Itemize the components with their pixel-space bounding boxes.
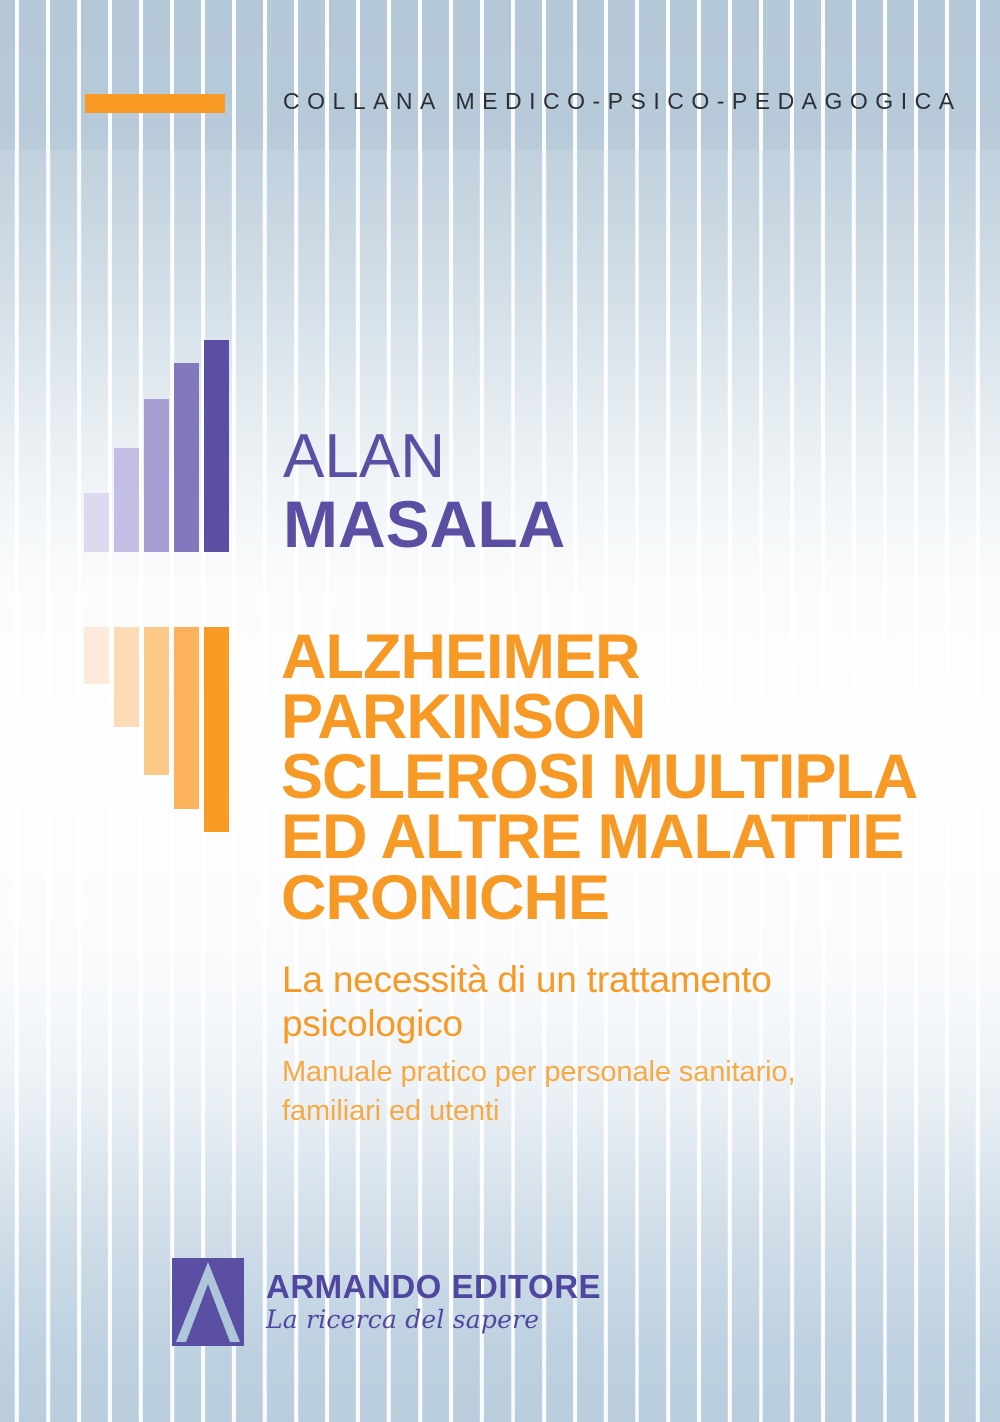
background-top-band-stripes (0, 0, 1000, 150)
book-title: ALZHEIMER PARKINSON SCLEROSI MULTIPLA ED… (281, 627, 917, 928)
purple-bar-chart (84, 340, 229, 552)
publisher-text-block: ARMANDO EDITORE La ricerca del sapere (266, 1270, 601, 1332)
subtitle-line-1: La necessità di un trattamento (282, 958, 772, 1002)
subtitle-line-2: psicologico (282, 1002, 772, 1046)
orange-bar-5 (204, 627, 229, 832)
book-cover: COLLANA MEDICO-PSICO-PEDAGOGICA ALAN MAS… (0, 0, 1000, 1422)
publisher-logo: ARMANDO EDITORE La ricerca del sapere (172, 1258, 601, 1346)
title-line-3: SCLEROSI MULTIPLA (281, 747, 917, 807)
orange-bar-2 (114, 627, 139, 727)
series-label: COLLANA MEDICO-PSICO-PEDAGOGICA (283, 88, 962, 115)
header-rule (85, 94, 225, 113)
title-line-2: PARKINSON (281, 687, 917, 747)
description-line-1: Manuale pratico per personale sanitario, (282, 1053, 795, 1092)
book-description: Manuale pratico per personale sanitario,… (282, 1053, 795, 1130)
author-last-name: MASALA (283, 493, 565, 556)
purple-bar-2 (114, 448, 139, 552)
orange-bar-1 (84, 627, 109, 684)
purple-bar-1 (84, 493, 109, 552)
title-line-4: ED ALTRE MALATTIE (281, 807, 917, 867)
orange-bar-4 (174, 627, 199, 809)
book-subtitle: La necessità di un trattamento psicologi… (282, 958, 772, 1045)
purple-bar-3 (144, 399, 169, 552)
publisher-tagline: La ricerca del sapere (266, 1307, 601, 1332)
author-name: ALAN MASALA (283, 428, 565, 556)
purple-bar-5 (204, 340, 229, 552)
armando-a-logo-icon (172, 1258, 244, 1346)
title-line-5: CRONICHE (281, 868, 917, 928)
title-line-1: ALZHEIMER (281, 627, 917, 687)
orange-bar-3 (144, 627, 169, 775)
purple-bar-4 (174, 363, 199, 552)
orange-bar-chart (84, 627, 229, 832)
description-line-2: familiari ed utenti (282, 1092, 795, 1131)
author-first-name: ALAN (283, 428, 565, 487)
publisher-name: ARMANDO EDITORE (266, 1270, 601, 1303)
